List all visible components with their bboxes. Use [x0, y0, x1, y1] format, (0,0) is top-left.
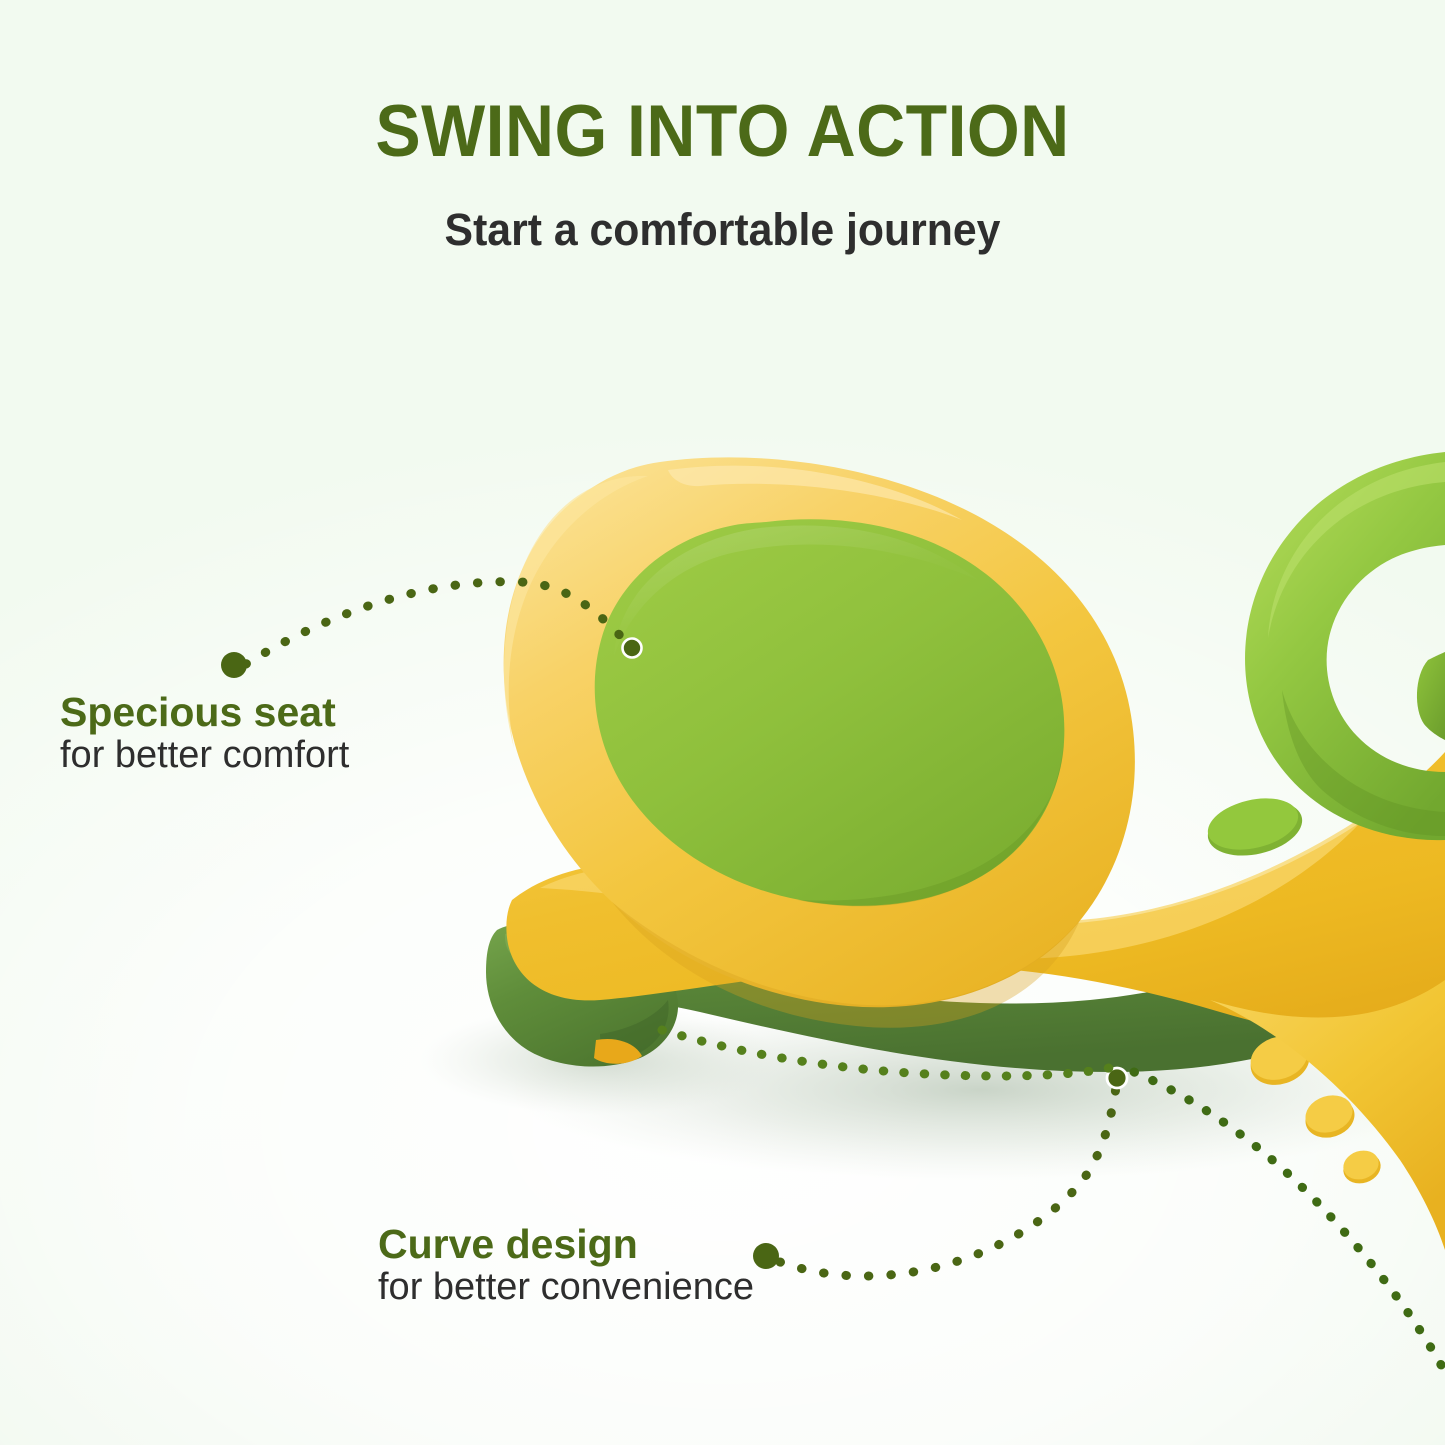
callout-specious-seat: Specious seat for better comfort: [60, 690, 349, 777]
leader-line-chassis-underside-right: [1134, 1072, 1445, 1372]
callout-title-specious-seat: Specious seat: [60, 690, 349, 734]
leader-line-curve: [780, 1080, 1117, 1276]
callout-subtitle-specious-seat: for better comfort: [60, 734, 349, 777]
leader-anchor-dot-seat: [221, 652, 247, 678]
callout-title-curve-design: Curve design: [378, 1222, 754, 1266]
callout-curve-design: Curve design for better convenience: [378, 1222, 754, 1309]
callout-subtitle-curve-design: for better convenience: [378, 1266, 754, 1309]
leader-target-dot-seat: [623, 639, 642, 658]
leader-anchor-dot-curve: [753, 1243, 779, 1269]
leader-line-seat: [246, 582, 632, 664]
leader-line-chassis-underside-left: [662, 1030, 1118, 1076]
product-feature-banner: SWING INTO ACTION Start a comfortable jo…: [0, 0, 1445, 1445]
